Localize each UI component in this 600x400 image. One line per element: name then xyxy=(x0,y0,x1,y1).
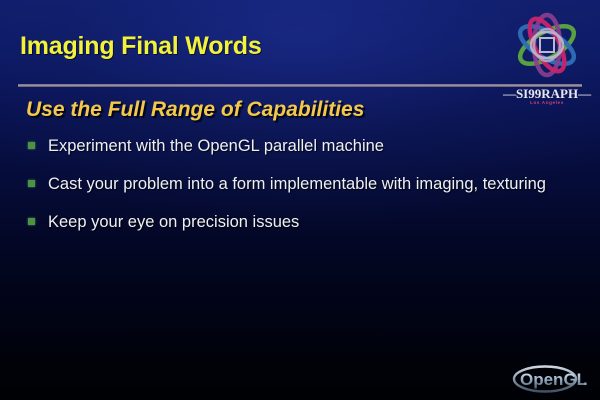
bullet-list: Experiment with the OpenGL parallel mach… xyxy=(28,134,574,248)
bullet-square-icon xyxy=(28,180,35,187)
list-item-label: Keep your eye on precision issues xyxy=(48,210,574,235)
siggraph-city-label: Los Angeles xyxy=(498,100,596,105)
slide-canvas: Imaging Final Words Use the Full Range o… xyxy=(0,0,600,400)
list-item: Keep your eye on precision issues xyxy=(28,210,574,235)
opengl-logo: OpenGL . xyxy=(512,363,594,395)
list-item: Cast your problem into a form implementa… xyxy=(28,172,574,197)
opengl-logo-icon: OpenGL . xyxy=(512,363,594,395)
section-subtitle: Use the Full Range of Capabilities xyxy=(26,98,364,122)
opengl-logo-period: . xyxy=(583,370,588,389)
list-item-label: Experiment with the OpenGL parallel mach… xyxy=(48,134,574,159)
siggraph-rings-icon xyxy=(498,12,596,78)
siggraph-wordmark-label: SI99RAPH xyxy=(516,86,578,101)
list-item-label: Cast your problem into a form implementa… xyxy=(48,172,574,197)
list-item: Experiment with the OpenGL parallel mach… xyxy=(28,134,574,159)
siggraph-logo: —SI99RAPH— Los Angeles xyxy=(498,12,596,104)
bullet-square-icon xyxy=(28,142,35,149)
opengl-logo-text: OpenGL xyxy=(520,370,587,389)
bullet-square-icon xyxy=(28,218,35,225)
page-title: Imaging Final Words xyxy=(20,32,262,61)
